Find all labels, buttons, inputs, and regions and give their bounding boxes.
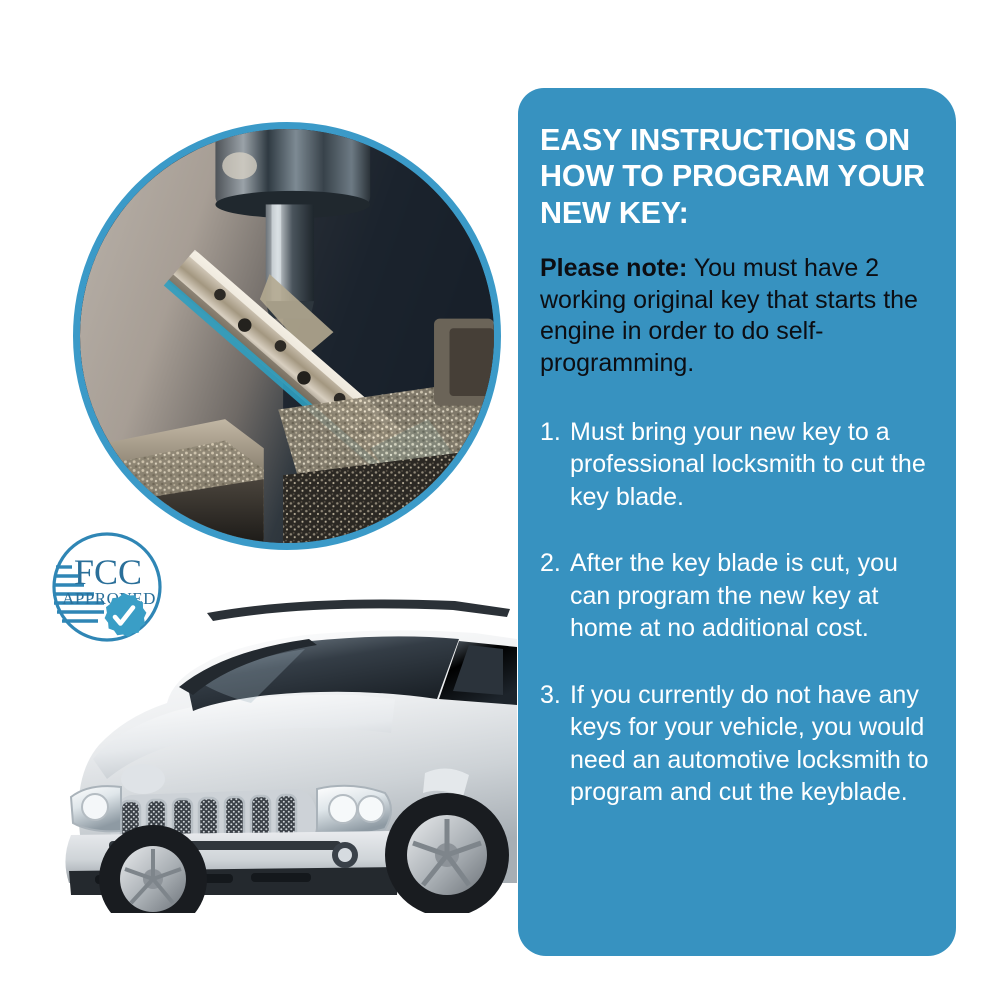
list-item: 1. Must bring your new key to a professi… bbox=[540, 416, 934, 514]
vehicle-photo bbox=[55, 583, 517, 913]
please-note-label: Please note: bbox=[540, 254, 687, 282]
vehicle-illustration bbox=[55, 583, 517, 913]
key-cutting-photo bbox=[73, 122, 501, 550]
panel-heading: EASY INSTRUCTIONS ON HOW TO PROGRAM YOUR… bbox=[540, 122, 934, 231]
step-number: 2. bbox=[540, 547, 570, 645]
list-item: 2. After the key blade is cut, you can p… bbox=[540, 547, 934, 645]
please-note-paragraph: Please note: You must have 2 working ori… bbox=[540, 253, 934, 380]
step-text: Must bring your new key to a professiona… bbox=[570, 416, 934, 514]
key-cutting-photo-inner bbox=[80, 129, 494, 543]
list-item: 3. If you currently do not have any keys… bbox=[540, 679, 934, 809]
instructions-panel: EASY INSTRUCTIONS ON HOW TO PROGRAM YOUR… bbox=[518, 88, 956, 956]
step-number: 1. bbox=[540, 416, 570, 514]
step-number: 3. bbox=[540, 679, 570, 809]
key-cutting-illustration bbox=[80, 129, 494, 543]
steps-list: 1. Must bring your new key to a professi… bbox=[540, 416, 934, 809]
step-text: If you currently do not have any keys fo… bbox=[570, 679, 934, 809]
step-text: After the key blade is cut, you can prog… bbox=[570, 547, 934, 645]
